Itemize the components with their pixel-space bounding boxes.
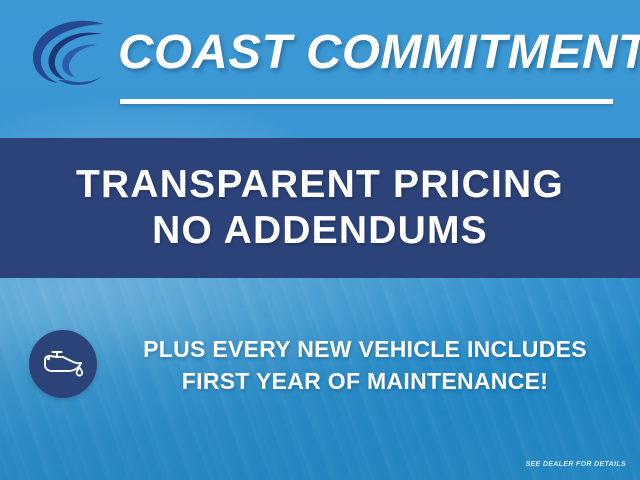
brand-title: COAST COMMITMENT <box>118 22 636 82</box>
promo-text: PLUS EVERY NEW VEHICLE INCLUDES FIRST YE… <box>105 318 625 414</box>
headline-panel: TRANSPARENT PRICING NO ADDENDUMS <box>0 138 640 278</box>
headline-line-1: TRANSPARENT PRICING <box>76 162 564 208</box>
headline-line-2: NO ADDENDUMS <box>152 208 488 254</box>
promo-badge <box>29 330 97 398</box>
promo-row: PLUS EVERY NEW VEHICLE INCLUDES FIRST YE… <box>0 318 640 414</box>
disclaimer-text: SEE DEALER FOR DETAILS <box>525 461 626 468</box>
coast-commitment-banner: COAST COMMITMENT TRANSPARENT PRICING NO … <box>0 0 640 480</box>
banner-header: COAST COMMITMENT <box>0 0 640 138</box>
coast-wave-swirl-icon <box>24 17 116 89</box>
oil-can-drip-icon <box>41 347 85 381</box>
promo-line-2: FIRST YEAR OF MAINTENANCE! <box>182 366 548 398</box>
header-divider <box>120 99 613 104</box>
promo-line-1: PLUS EVERY NEW VEHICLE INCLUDES <box>143 334 587 366</box>
